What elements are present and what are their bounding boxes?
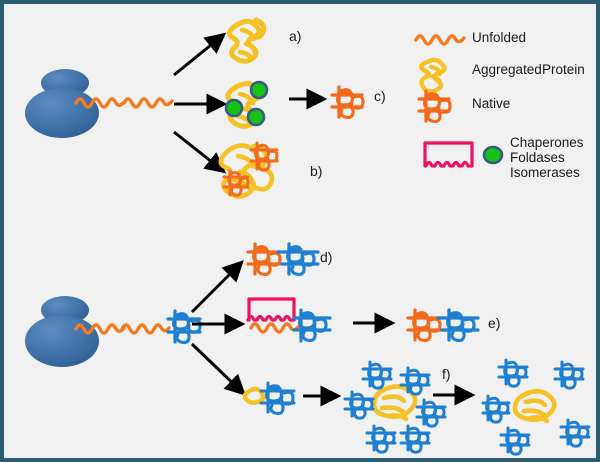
foldase-circle-icon [226, 100, 242, 116]
label-a: a) [289, 28, 301, 44]
native-protein-icon [416, 88, 458, 124]
small-aggregate-native-icon [242, 378, 304, 418]
branch-d-result [246, 240, 326, 280]
chaperone-with-substrate-icon [246, 296, 346, 346]
branch-b-mixed-aggregate [218, 140, 308, 200]
arrow-to-e [352, 316, 398, 330]
branch-a-aggregate [226, 16, 274, 68]
arrow-right-icon [302, 389, 344, 403]
top-unfolded-protein [122, 92, 174, 110]
top-cell-emerging-squiggle [74, 92, 128, 110]
dispersed-native-cluster [482, 354, 594, 458]
legend-icon-foldase [482, 144, 504, 166]
label-e: e) [488, 315, 500, 331]
squiggle-icon [74, 92, 128, 110]
legend-icon-chaperone [422, 140, 478, 172]
foldase-circle-icon [482, 144, 504, 166]
legend-label-aggregated: Aggregated [472, 62, 542, 77]
branch-e-result [406, 306, 486, 346]
orange-plus-blue-native-icon [246, 240, 326, 280]
arrow-to-c [288, 92, 330, 106]
legend-label-chaperones: Chaperones [510, 135, 584, 150]
solubilized-aggregate-icon [482, 354, 594, 458]
legend-label-foldases: Foldases [510, 150, 565, 165]
aggregate-with-foldases [222, 78, 278, 130]
label-c: c) [374, 88, 386, 104]
arrow-right-icon [352, 316, 398, 330]
legend-icon-unfolded [414, 29, 466, 47]
mixed-aggregate-native-icon [218, 140, 308, 200]
chaperone-complex [246, 296, 346, 346]
squiggle-icon [414, 29, 466, 47]
aggregate-foldase-icon [222, 78, 278, 130]
legend-label-native: Native [472, 96, 510, 111]
legend-icon-aggregated [418, 56, 452, 86]
label-d: d) [320, 249, 332, 265]
label-f: f) [442, 366, 451, 382]
label-b: b) [310, 163, 322, 179]
legend-icon-native [416, 88, 458, 124]
foldase-circle-icon [248, 109, 264, 125]
branch-c-native-protein [330, 84, 370, 120]
legend-label-protein: Protein [542, 62, 585, 77]
aggregate-icon [418, 56, 452, 86]
arrow-right-icon [288, 92, 330, 106]
native-protein-icon [330, 84, 370, 120]
branch-f-start [242, 378, 304, 418]
native-cluster-aggregate [344, 356, 452, 460]
foldase-circle-icon [251, 82, 267, 98]
orange-plus-blue-native-icon [406, 306, 486, 346]
legend-label-isomerases: Isomerases [510, 165, 580, 180]
arrow-f-2 [432, 387, 480, 403]
arrow-right-icon [432, 387, 480, 403]
arrow-f-1 [302, 389, 344, 403]
figure-canvas: a) c) [0, 0, 600, 462]
squiggle-icon [122, 92, 174, 110]
legend-label-unfolded: Unfolded [472, 30, 526, 45]
aggregate-native-cluster-icon [344, 356, 452, 460]
aggregate-icon [226, 16, 274, 68]
chaperone-icon [422, 140, 478, 172]
